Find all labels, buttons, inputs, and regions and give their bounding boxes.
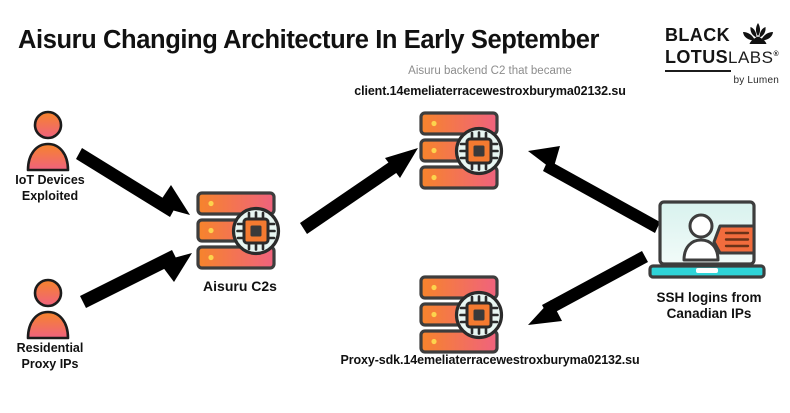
ssh-label-line2: Canadian IPs (630, 306, 788, 322)
ssh-label-line1: SSH logins from (630, 290, 788, 306)
server-chip-icon-c2 (192, 188, 288, 274)
backend-top-domain: client.14emeliaterracewestroxburyma02132… (310, 83, 670, 99)
person-icon-iot (22, 110, 74, 172)
person-icon-proxy (22, 278, 74, 340)
iot-label-line1: IoT Devices (0, 172, 100, 188)
backend-bottom-domain: Proxy-sdk.14emeliaterracewestroxburyma02… (290, 352, 690, 368)
arrow-ssh-to-backend-top (528, 146, 660, 233)
laptop-user-icon-ssh (648, 198, 766, 282)
arrow-c2-to-backend-top (300, 148, 418, 234)
backend-top-caption: Aisuru backend C2 that became (330, 64, 650, 79)
proxy-label-line2: Proxy IPs (0, 356, 100, 372)
server-chip-icon-backend-top (415, 108, 511, 194)
server-chip-icon-backend-bottom (415, 272, 511, 358)
diagram-canvas: Aisuru Changing Architecture In Early Se… (0, 0, 790, 413)
node-label-ssh: SSH logins from Canadian IPs (630, 290, 788, 322)
arrow-proxy-to-c2 (80, 250, 192, 308)
proxy-label-line1: Residential (0, 340, 100, 356)
iot-label-line2: Exploited (0, 188, 100, 204)
node-label-c2: Aisuru C2s (180, 278, 300, 294)
node-label-iot: IoT Devices Exploited (0, 172, 100, 204)
node-label-proxy: Residential Proxy IPs (0, 340, 100, 372)
